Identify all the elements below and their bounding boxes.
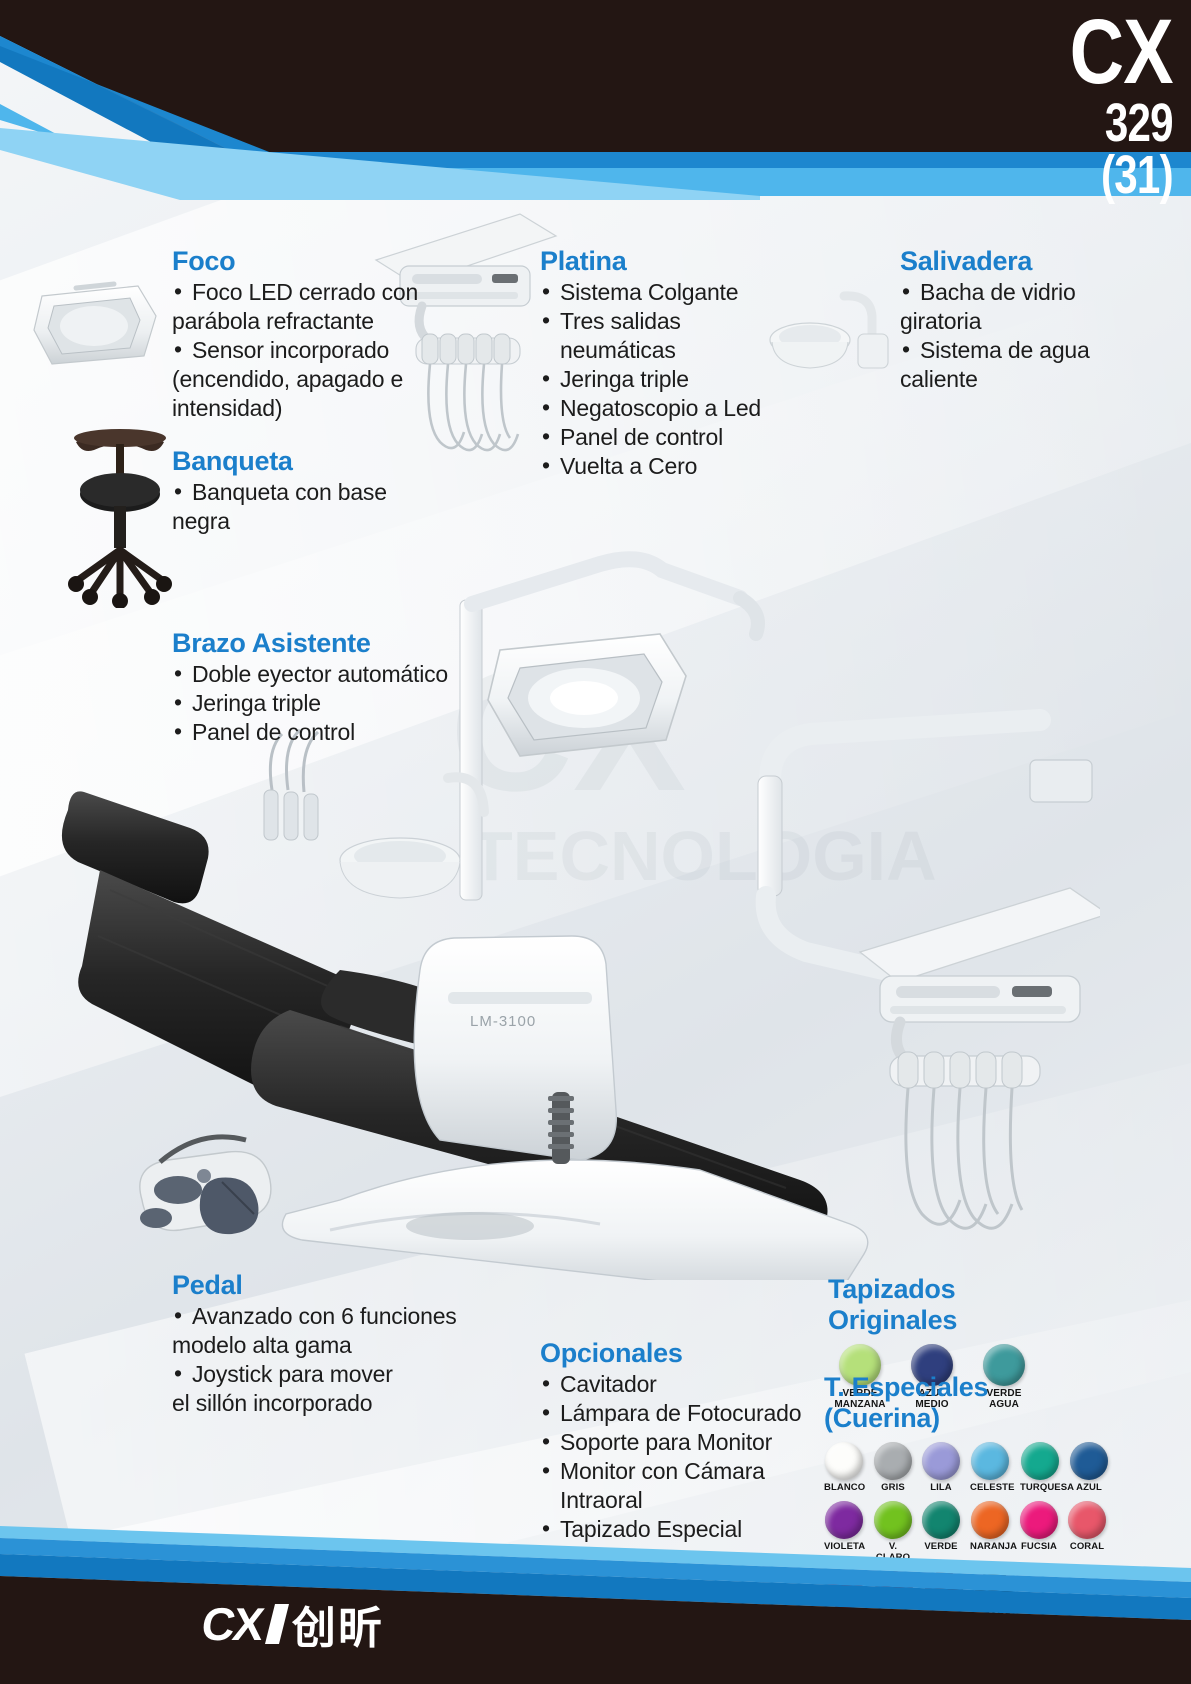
color-swatch-dot — [1070, 1442, 1108, 1480]
feature-block-pedal: Pedal Avanzado con 6 funciones modelo al… — [172, 1270, 472, 1418]
color-swatch-dot — [874, 1442, 912, 1480]
feature-block-salivadera: Salivadera Bacha de vidrio giratoria Sis… — [900, 246, 1100, 394]
model-designation: CX 329 (31) — [1047, 8, 1173, 202]
upholstery-special-title: T. Especiales (Cuerina) — [824, 1372, 1096, 1434]
list-item: Cavitador — [540, 1370, 840, 1399]
unit-badge-text: LM-3100 — [470, 1013, 536, 1030]
feature-block-banqueta: Banqueta Banqueta con base negra — [172, 446, 402, 536]
brand-name: CX — [1070, 8, 1173, 96]
color-swatch[interactable]: AZUL — [1070, 1442, 1108, 1493]
list-item: Negatoscopio a Led — [540, 394, 800, 423]
color-swatch-label: AZUL — [1070, 1483, 1108, 1493]
feature-block-foco: Foco Foco LED cerrado con parábola refra… — [172, 246, 422, 423]
list-item: negra — [172, 507, 402, 536]
list-item: intensidad) — [172, 394, 422, 423]
feature-list-banqueta: Banqueta con base negra — [172, 478, 402, 536]
feature-list-brazo: Doble eyector automático Jeringa triple … — [172, 660, 472, 747]
feature-title-pedal: Pedal — [172, 1270, 472, 1301]
color-swatch-dot — [825, 1442, 863, 1480]
feature-list-pedal: Avanzado con 6 funciones modelo alta gam… — [172, 1302, 472, 1418]
color-swatch-dot — [1021, 1442, 1059, 1480]
feature-title-opcionales: Opcionales — [540, 1338, 840, 1369]
color-swatch-label: TURQUESA — [1020, 1483, 1060, 1493]
logo-chinese-text: 创昕 — [292, 1592, 384, 1656]
list-item: el sillón incorporado — [172, 1389, 472, 1418]
list-item: Avanzado con 6 funciones — [172, 1302, 472, 1331]
feature-title-platina: Platina — [540, 246, 800, 277]
list-item: Jeringa triple — [540, 365, 800, 394]
product-sheet-page: CX TECNOLOGIA CX 329 (31) — [0, 0, 1191, 1684]
company-logo: CX 创昕 — [202, 1592, 384, 1656]
feature-title-salivadera: Salivadera — [900, 246, 1100, 277]
color-swatch[interactable]: GRIS — [874, 1442, 912, 1493]
list-item: Doble eyector automático — [172, 660, 472, 689]
list-item: Vuelta a Cero — [540, 452, 800, 481]
operating-light-image — [18, 268, 168, 378]
list-item: Sensor incorporado — [172, 336, 422, 365]
page-header: CX 329 (31) — [0, 0, 1191, 215]
logo-slash-icon — [265, 1604, 289, 1644]
list-item: Panel de control — [540, 423, 800, 452]
model-variant: (31) — [1075, 150, 1173, 202]
color-swatch-label: LILA — [922, 1483, 960, 1493]
color-swatch-label: BLANCO — [824, 1483, 864, 1493]
upholstery-special-swatch-row: BLANCOGRISLILACELESTETURQUESAAZUL — [824, 1442, 1096, 1493]
feature-list-platina: Sistema Colgante Tres salidas neumáticas… — [540, 278, 800, 481]
feature-block-opcionales: Opcionales Cavitador Lámpara de Fotocura… — [540, 1338, 840, 1544]
color-swatch[interactable]: BLANCO — [824, 1442, 864, 1493]
list-item: Monitor con Cámara Intraoral — [540, 1457, 840, 1515]
list-item: Jeringa triple — [172, 689, 472, 718]
list-item: Bacha de vidrio — [900, 278, 1100, 307]
upholstery-original-title: Tapizados Originales — [828, 1274, 1088, 1336]
list-item: Soporte para Monitor — [540, 1428, 840, 1457]
list-item: giratoria — [900, 307, 1100, 336]
feature-title-banqueta: Banqueta — [172, 446, 402, 477]
color-swatch-label: CELESTE — [970, 1483, 1010, 1493]
page-footer: CX 创昕 — [0, 1524, 1191, 1684]
list-item: Joystick para mover — [172, 1360, 472, 1389]
list-item: Tres salidas neumáticas — [540, 307, 800, 365]
list-item: Foco LED cerrado con — [172, 278, 422, 307]
feature-title-foco: Foco — [172, 246, 422, 277]
list-item: Banqueta con base — [172, 478, 402, 507]
color-swatch-dot — [922, 1442, 960, 1480]
color-swatch-label: GRIS — [874, 1483, 912, 1493]
list-item: Lámpara de Fotocurado — [540, 1399, 840, 1428]
list-item: caliente — [900, 365, 1100, 394]
feature-block-platina: Platina Sistema Colgante Tres salidas ne… — [540, 246, 800, 481]
list-item: Sistema de agua — [900, 336, 1100, 365]
feature-list-foco: Foco LED cerrado con parábola refractant… — [172, 278, 422, 423]
model-number: 329 — [1075, 98, 1173, 150]
list-item: Panel de control — [172, 718, 472, 747]
color-swatch[interactable]: LILA — [922, 1442, 960, 1493]
feature-list-opcionales: Cavitador Lámpara de Fotocurado Soporte … — [540, 1370, 840, 1544]
color-swatch[interactable]: TURQUESA — [1020, 1442, 1060, 1493]
list-item: parábola refractante — [172, 307, 422, 336]
color-swatch-dot — [971, 1442, 1009, 1480]
feature-title-brazo: Brazo Asistente — [172, 628, 472, 659]
list-item: (encendido, apagado e — [172, 365, 422, 394]
list-item: Sistema Colgante — [540, 278, 800, 307]
feature-list-salivadera: Bacha de vidrio giratoria Sistema de agu… — [900, 278, 1100, 394]
feature-block-brazo-asistente: Brazo Asistente Doble eyector automático… — [172, 628, 472, 747]
list-item: modelo alta gama — [172, 1331, 472, 1360]
color-swatch[interactable]: CELESTE — [970, 1442, 1010, 1493]
logo-latin-text: CX — [198, 1597, 265, 1651]
